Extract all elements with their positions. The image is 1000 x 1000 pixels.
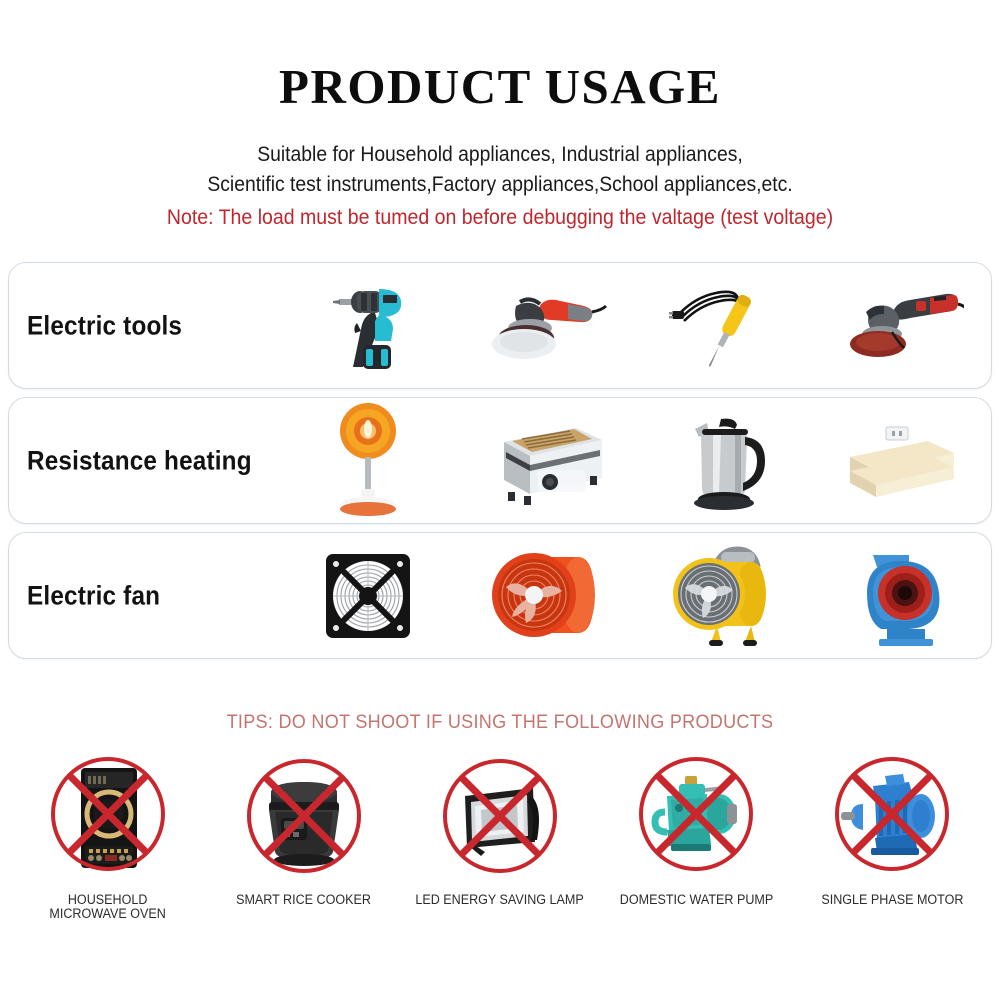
- angle-grinder-icon: [810, 263, 987, 388]
- prohibited-item-label: DOMESTIC WATER PUMP: [619, 893, 772, 907]
- cordless-drill-icon: [279, 263, 456, 388]
- subtitle-line-2: Scientific test instruments,Factory appl…: [40, 173, 960, 197]
- category-card-list: Electric tools: [8, 262, 992, 667]
- category-item-row: [279, 533, 987, 658]
- angle-polisher-icon: [456, 263, 633, 388]
- prohibited-item: DOMESTIC WATER PUMP: [598, 752, 794, 921]
- halogen-heater-icon: [279, 398, 456, 523]
- prohibited-item-label: SINGLE PHASE MOTOR: [821, 893, 963, 907]
- induction-cooker-icon: [33, 752, 183, 887]
- category-item-row: [279, 263, 987, 388]
- rice-cooker-icon: [229, 752, 379, 887]
- water-pump-icon: [621, 752, 771, 887]
- tips-heading: TIPS: DO NOT SHOOT IF USING THE FOLLOWIN…: [25, 712, 975, 734]
- electric-kettle-icon: [633, 398, 810, 523]
- prohibited-item: SINGLE PHASE MOTOR: [794, 752, 990, 921]
- portable-ventilator-icon: [633, 533, 810, 658]
- category-card: Resistance heating: [8, 397, 992, 524]
- prohibited-item: LED ENERGY SAVING LAMP: [402, 752, 598, 921]
- hot-plate-icon: [456, 398, 633, 523]
- prohibited-item-label: LED ENERGY SAVING LAMP: [416, 893, 584, 907]
- product-usage-infographic: PRODUCT USAGE Suitable for Household app…: [0, 0, 1000, 1000]
- soldering-iron-icon: [633, 263, 810, 388]
- electric-motor-icon: [817, 752, 967, 887]
- led-flood-lamp-icon: [425, 752, 575, 887]
- prohibited-item-label: HOUSEHOLD MICROWAVE OVEN: [50, 893, 166, 921]
- prohibited-item: SMART RICE COOKER: [206, 752, 402, 921]
- subtitle-line-1: Suitable for Household appliances, Indus…: [40, 143, 960, 167]
- category-card: Electric tools: [8, 262, 992, 389]
- category-label: Resistance heating: [27, 445, 252, 476]
- warning-note: Note: The load must be tumed on before d…: [35, 206, 965, 230]
- category-card: Electric fan: [8, 532, 992, 659]
- prohibited-item-list: HOUSEHOLD MICROWAVE OVEN: [0, 752, 1000, 921]
- exhaust-fan-icon: [279, 533, 456, 658]
- electric-blanket-icon: [810, 398, 987, 523]
- page-title: PRODUCT USAGE: [0, 58, 1000, 115]
- prohibited-item-label: SMART RICE COOKER: [237, 893, 372, 907]
- category-item-row: [279, 398, 987, 523]
- category-label: Electric fan: [27, 580, 160, 611]
- axial-fan-icon: [456, 533, 633, 658]
- centrifugal-blower-icon: [810, 533, 987, 658]
- category-label: Electric tools: [27, 310, 182, 341]
- prohibited-item: HOUSEHOLD MICROWAVE OVEN: [10, 752, 206, 921]
